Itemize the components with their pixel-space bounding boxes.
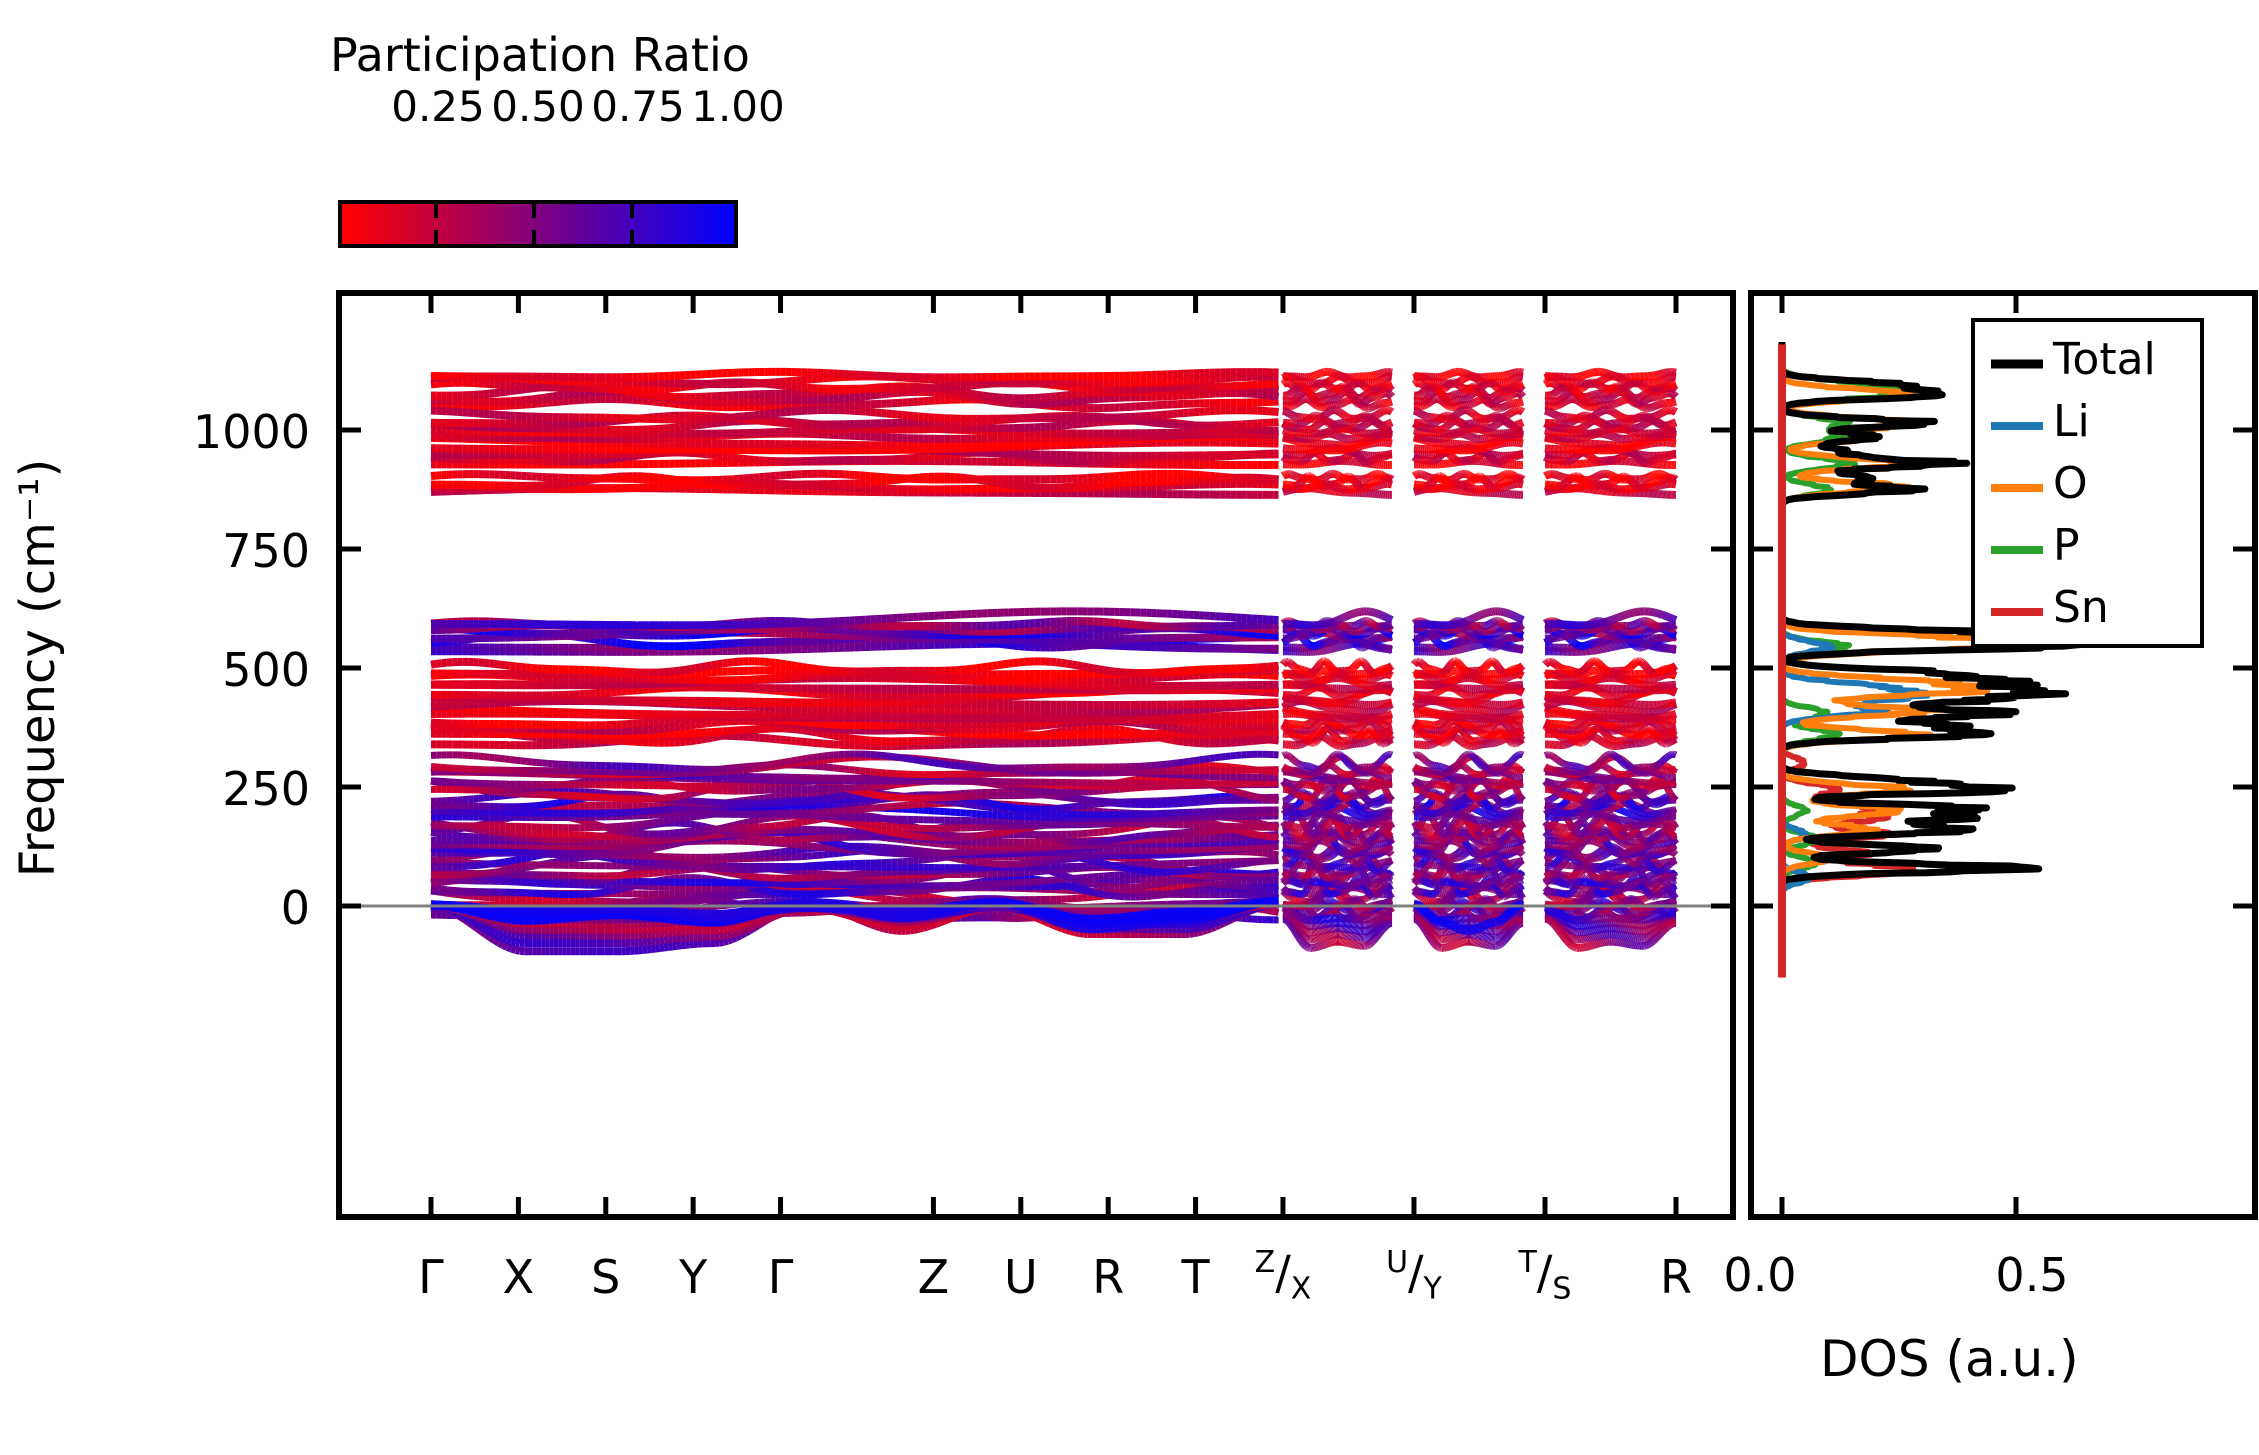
colorbar-tick-mark-2 xyxy=(630,204,634,218)
x-tick-label-X: X xyxy=(468,1250,568,1304)
legend-label-Sn: Sn xyxy=(2053,582,2109,633)
x-tick-label-Z: Z xyxy=(883,1250,983,1304)
band-curve-group xyxy=(431,372,1676,951)
legend-label-Li: Li xyxy=(2053,396,2090,447)
x-tick-label-T-over-S: T/S xyxy=(1495,1245,1595,1307)
colorbar-title: Participation Ratio xyxy=(330,28,750,82)
band-structure-plot xyxy=(336,290,1736,1220)
legend-label-P: P xyxy=(2053,520,2080,571)
colorbar-tick-3: 1.00 xyxy=(648,82,828,131)
dos-x-tick-0: 0.0 xyxy=(1700,1248,1820,1302)
x-tick-label-U-over-Y: U/Y xyxy=(1364,1245,1464,1307)
colorbar-gradient xyxy=(342,204,734,244)
participation-ratio-colorbar xyxy=(338,200,738,248)
dos-x-axis-label: DOS (a.u.) xyxy=(1820,1330,2079,1388)
colorbar-tick-mark-1 xyxy=(532,204,536,218)
y-tick-250: 250 xyxy=(120,762,310,816)
legend-label-Total: Total xyxy=(2053,334,2156,385)
figure-root: Participation Ratio 0.25 0.50 0.75 1.00 … xyxy=(0,0,2259,1455)
colorbar-tick-mark-0 xyxy=(434,204,438,218)
x-tick-label-Y: Y xyxy=(643,1250,743,1304)
x-tick-label-Γ: Γ xyxy=(731,1250,831,1304)
y-tick-0: 0 xyxy=(120,881,310,935)
x-tick-label-S: S xyxy=(556,1250,656,1304)
colorbar-tick-mark-2b xyxy=(630,230,634,244)
dos-x-tick-1: 0.5 xyxy=(1972,1248,2092,1302)
y-axis-label: Frequency (cm⁻¹) xyxy=(10,408,66,928)
x-tick-label-R: R xyxy=(1058,1250,1158,1304)
y-tick-1000: 1000 xyxy=(120,405,310,459)
legend-label-O: O xyxy=(2053,458,2088,509)
x-tick-label-Z-over-X: Z/X xyxy=(1233,1245,1333,1307)
y-tick-500: 500 xyxy=(120,643,310,697)
x-tick-label-Γ: Γ xyxy=(381,1250,481,1304)
y-tick-750: 750 xyxy=(120,524,310,578)
x-tick-label-T: T xyxy=(1146,1250,1246,1304)
x-tick-label-U: U xyxy=(971,1250,1071,1304)
colorbar-tick-mark-1b xyxy=(532,230,536,244)
dos-legend: TotalLiOPSn xyxy=(1971,318,2204,648)
colorbar-tick-mark-0b xyxy=(434,230,438,244)
